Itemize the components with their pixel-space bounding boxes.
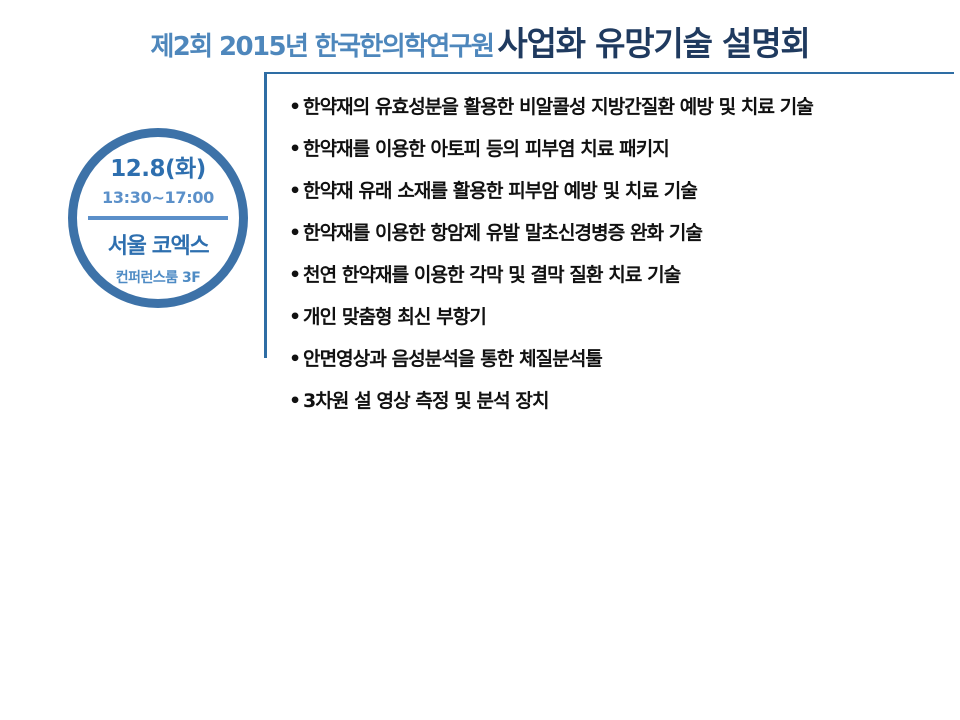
list-item: • 안면영상과 음성분석을 통한 체질분석툴: [289, 344, 954, 371]
section-1-title: 제2회 2015년 한국한의학연구원사업화 유망기술 설명회: [0, 17, 960, 65]
bullet-dot-icon: •: [289, 140, 303, 159]
list-item-label: 한약재를 이용한 항암제 유발 말초신경병증 완화 기술: [303, 218, 954, 245]
list-item: • 천연 한약재를 이용한 각막 및 결막 질환 치료 기술: [289, 260, 954, 287]
section-1-title-main: 사업화 유망기술 설명회: [497, 24, 809, 63]
list-item: • 개인 맞춤형 최신 부항기: [289, 302, 954, 329]
bullet-dot-icon: •: [289, 350, 303, 369]
list-item-label: 한약재 유래 소재를 활용한 피부암 예방 및 치료 기술: [303, 176, 954, 203]
badge-1-divider: [88, 216, 228, 220]
list-item: • 한약재를 이용한 항암제 유발 말초신경병증 완화 기술: [289, 218, 954, 245]
bullet-dot-icon: •: [289, 308, 303, 327]
bullet-dot-icon: •: [289, 224, 303, 243]
bullet-dot-icon: •: [289, 182, 303, 201]
list-item: • 한약재의 유효성분을 활용한 비알콜성 지방간질환 예방 및 치료 기술: [289, 92, 954, 119]
list-item-label: 천연 한약재를 이용한 각막 및 결막 질환 치료 기술: [303, 260, 954, 287]
bullet-dot-icon: •: [289, 98, 303, 117]
list-item: • 한약재를 이용한 아토피 등의 피부염 치료 패키지: [289, 134, 954, 161]
badge-1-room: 컨퍼런스룸 3F: [116, 267, 201, 287]
section-1-title-prefix: 제2회 2015년 한국한의학연구원: [150, 32, 493, 62]
list-item-label: 한약재의 유효성분을 활용한 비알콜성 지방간질환 예방 및 치료 기술: [303, 92, 954, 119]
list-item-label: 개인 맞춤형 최신 부항기: [303, 302, 954, 329]
section-daegu: 2015년 한국한의학연구원사업화 유망기술 설명회 12.15(화) 13:0…: [0, 372, 960, 720]
technology-list-seoul: • 한약재의 유효성분을 활용한 비알콜성 지방간질환 예방 및 치료 기술 •…: [264, 72, 954, 358]
event-badge-seoul: 12.8(화) 13:30~17:00 서울 코엑스 컨퍼런스룸 3F: [68, 128, 248, 308]
bullet-dot-icon: •: [289, 266, 303, 285]
badge-1-date: 12.8(화): [110, 149, 205, 183]
list-item-label: 한약재를 이용한 아토피 등의 피부염 치료 패키지: [303, 134, 954, 161]
section-seoul: 제2회 2015년 한국한의학연구원사업화 유망기술 설명회 12.8(화) 1…: [0, 0, 960, 370]
list-item: • 한약재 유래 소재를 활용한 피부암 예방 및 치료 기술: [289, 176, 954, 203]
badge-1-place: 서울 코엑스: [108, 228, 208, 260]
badge-1-time: 13:30~17:00: [102, 188, 214, 207]
poster-canvas: 제2회 2015년 한국한의학연구원사업화 유망기술 설명회 12.8(화) 1…: [0, 0, 960, 720]
list-item-label: 안면영상과 음성분석을 통한 체질분석툴: [303, 344, 954, 371]
